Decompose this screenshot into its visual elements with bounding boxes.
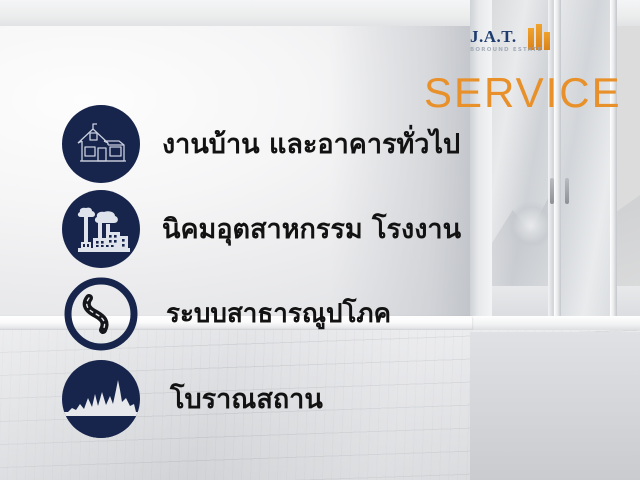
temple-icon bbox=[62, 360, 140, 438]
service-item-industrial[interactable]: นิคมอุตสาหกรรม โรงงาน bbox=[62, 190, 461, 268]
service-item-historic[interactable]: โบราณสถาน bbox=[62, 360, 323, 438]
factory-icon bbox=[62, 190, 140, 268]
company-logo[interactable]: J.A.T. BOROUND ESTATE bbox=[470, 26, 562, 60]
logo-tagline: BOROUND ESTATE bbox=[470, 47, 543, 53]
service-label: ระบบสาธารณูปโภค bbox=[166, 301, 391, 327]
door-handle-right[interactable] bbox=[565, 178, 569, 204]
service-item-house[interactable]: งานบ้าน และอาคารทั่วไป bbox=[62, 105, 460, 183]
service-item-utilities[interactable]: ระบบสาธารณูปโภค bbox=[62, 275, 391, 353]
shrub bbox=[510, 200, 552, 246]
house-icon bbox=[62, 105, 140, 183]
service-label: งานบ้าน และอาคารทั่วไป bbox=[162, 131, 460, 158]
service-banner: J.A.T. BOROUND ESTATE SERVICE bbox=[0, 0, 640, 480]
service-label: โบราณสถาน bbox=[170, 386, 323, 413]
door-handle-left[interactable] bbox=[550, 178, 554, 204]
service-label: นิคมอุตสาหกรรม โรงงาน bbox=[162, 216, 461, 243]
floor-right-section bbox=[470, 332, 640, 480]
glass-panel-right bbox=[558, 0, 614, 340]
door-mullion-2 bbox=[610, 0, 617, 340]
logo-wordmark: J.A.T. bbox=[470, 28, 517, 45]
road-icon bbox=[62, 275, 140, 353]
